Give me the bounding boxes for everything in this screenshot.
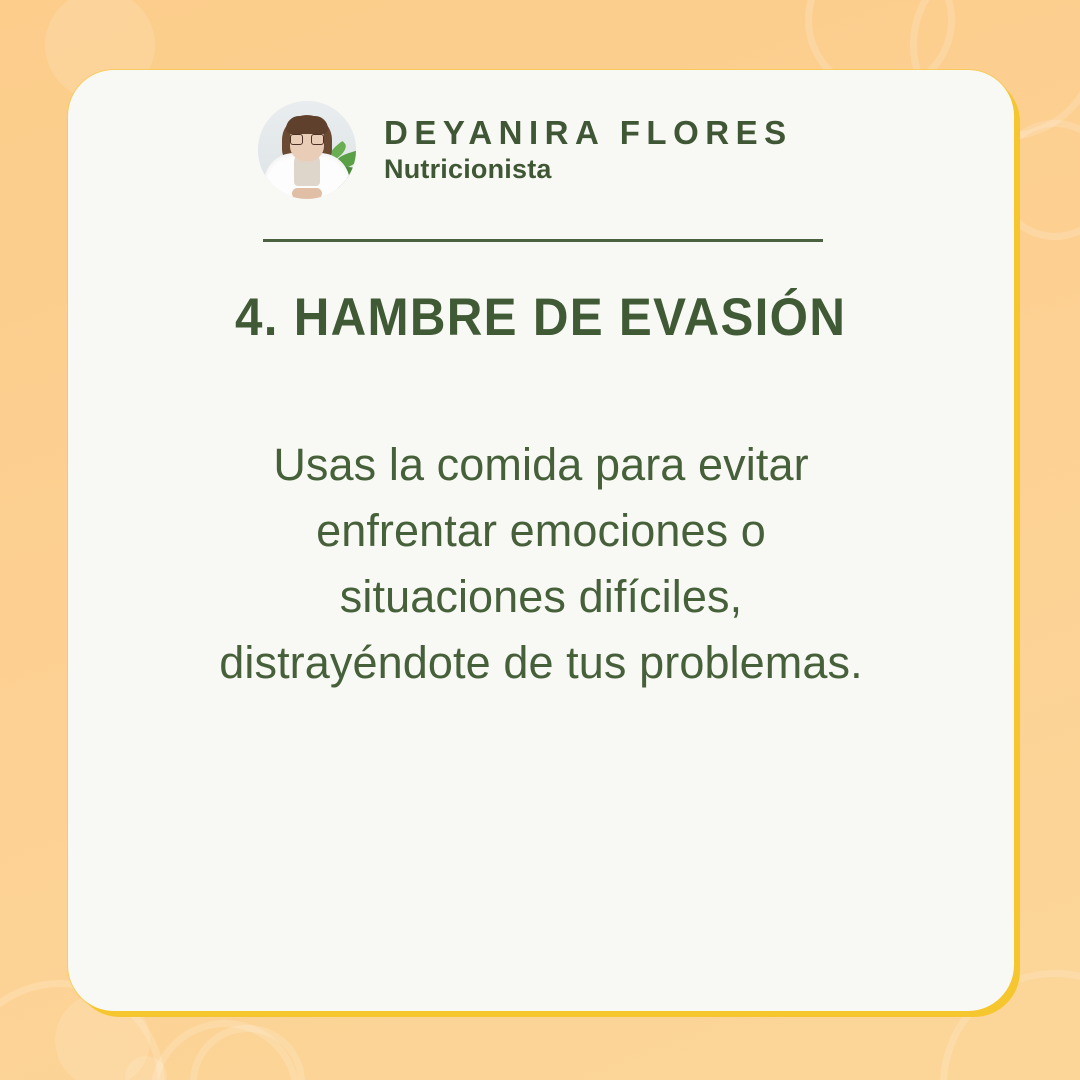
body-paragraph: Usas la comida para evitar enfrentar emo… xyxy=(201,432,881,697)
content-card: DEYANIRA FLORES Nutricionista 4. HAMBRE … xyxy=(68,70,1014,1011)
avatar xyxy=(258,101,356,199)
profile-header: DEYANIRA FLORES Nutricionista xyxy=(130,101,952,199)
page-title: 4. HAMBRE DE EVASIÓN xyxy=(235,290,846,346)
header-divider xyxy=(263,239,823,242)
glasses-icon xyxy=(290,134,324,145)
profile-text-block: DEYANIRA FLORES Nutricionista xyxy=(384,115,793,184)
profile-role: Nutricionista xyxy=(384,155,793,185)
avatar-fringe xyxy=(286,116,328,134)
avatar-hands xyxy=(292,188,322,199)
profile-name: DEYANIRA FLORES xyxy=(384,115,793,151)
